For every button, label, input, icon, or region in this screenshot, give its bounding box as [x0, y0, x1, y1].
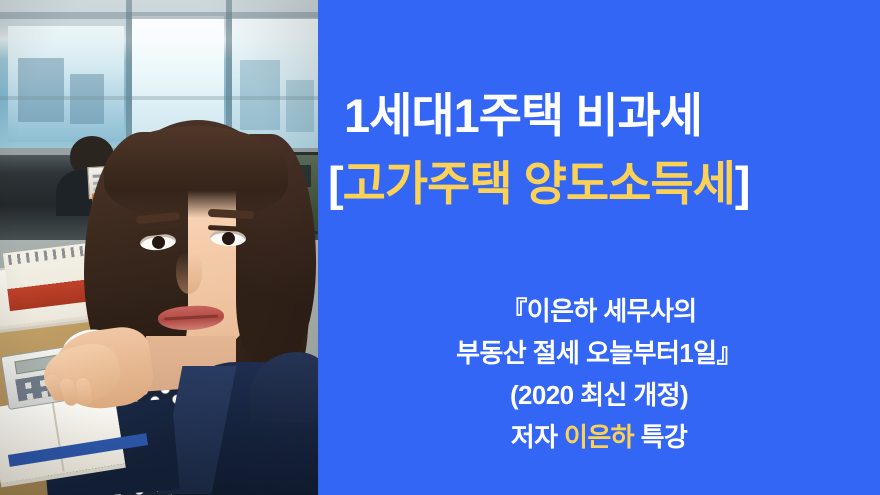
headline-open-bracket: [: [328, 157, 343, 210]
cityscape-building: [286, 80, 314, 132]
headline-line-1: 1세대1주택 비과세: [326, 82, 880, 150]
headline: 1세대1주택 비과세 [고가주택 양도소득세]: [326, 82, 880, 217]
subtitle-line-1: 『이은하 세무사의: [318, 290, 880, 332]
subtitle-line-3: (2020 최신 개정): [318, 374, 880, 416]
title-panel: 1세대1주택 비과세 [고가주택 양도소득세] 『이은하 세무사의 부동산 절세…: [318, 0, 880, 495]
subtitle-author-name: 이은하: [564, 422, 634, 452]
headline-line-2: [고가주택 양도소득세]: [326, 150, 880, 218]
window-frame: [0, 12, 318, 19]
nose: [176, 252, 202, 294]
pupil-left: [151, 235, 165, 249]
pupil-right: [222, 232, 236, 246]
subtitle-line-2: 부동산 절세 오늘부터1일』: [318, 332, 880, 374]
slide-canvas: 1세대1주택 비과세 [고가주택 양도소득세] 『이은하 세무사의 부동산 절세…: [0, 0, 880, 495]
speaker-photo: [0, 0, 318, 495]
subtitle-line-4: 저자 이은하 특강: [318, 416, 880, 458]
cityscape-building: [18, 58, 64, 122]
headline-close-bracket: ]: [735, 157, 750, 210]
subtitle-author-prefix: 저자: [511, 422, 564, 452]
cityscape-building: [240, 60, 280, 130]
window-frame: [0, 96, 318, 100]
subtitle-author-suffix: 특강: [634, 422, 687, 452]
hair-fringe: [104, 126, 288, 218]
headline-highlight: 고가주택 양도소득세: [343, 157, 735, 210]
subtitle-block: 『이은하 세무사의 부동산 절세 오늘부터1일』 (2020 최신 개정) 저자…: [318, 290, 880, 458]
